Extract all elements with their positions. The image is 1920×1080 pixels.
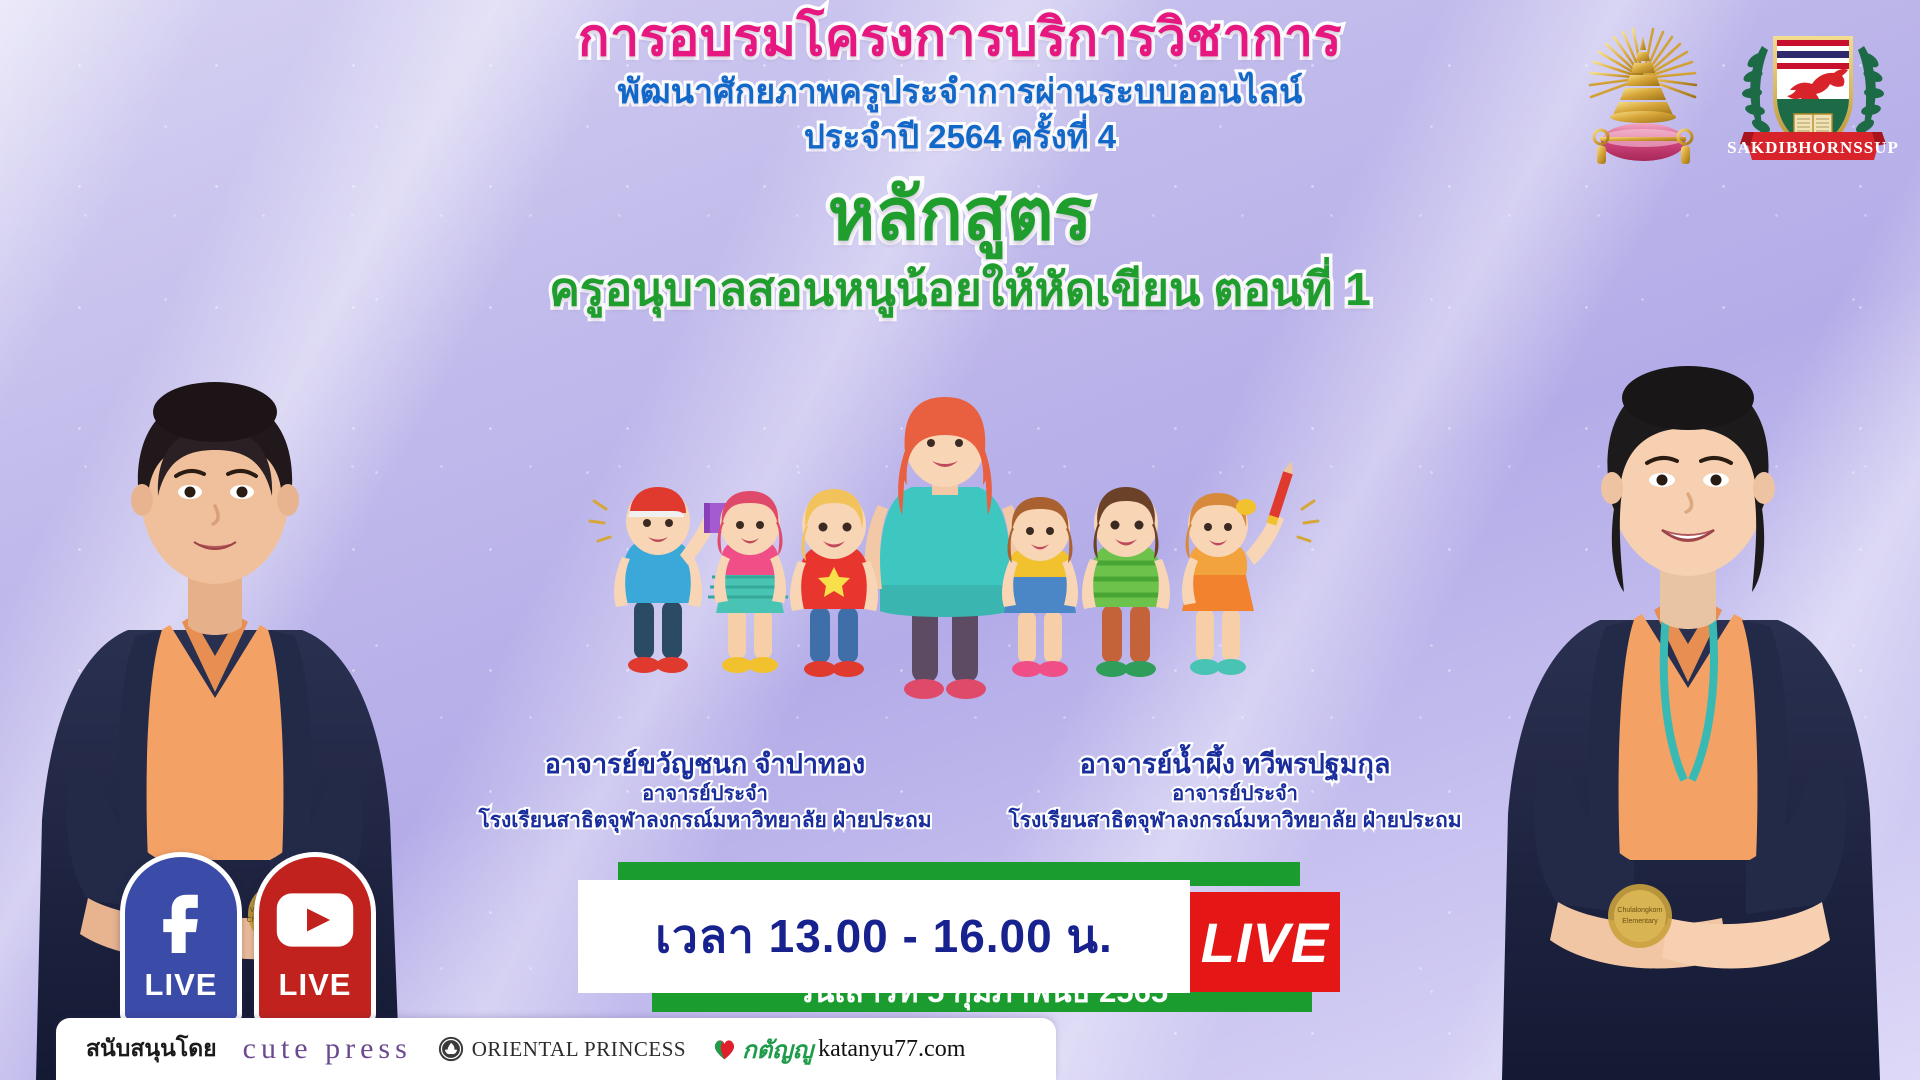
social-live-buttons: LIVE LIVE bbox=[120, 852, 376, 1024]
instructor-name: อาจารย์น้ำผึ้ง ทวีพรปฐมกุล bbox=[970, 748, 1500, 781]
youtube-icon bbox=[275, 873, 355, 967]
crest-banner-text: SAKDIBHORNSSUP bbox=[1728, 138, 1898, 157]
instructor-role: อาจารย์ประจำ bbox=[970, 782, 1500, 807]
instructor-name: อาจารย์ขวัญชนก จำปาทอง bbox=[440, 748, 970, 781]
chulalongkorn-university-emblem-icon bbox=[1588, 14, 1698, 189]
facebook-live-label: LIVE bbox=[145, 967, 218, 1019]
svg-text:Elementary: Elementary bbox=[1622, 918, 1658, 925]
illustration-child-5 bbox=[1082, 487, 1170, 677]
sakdibhornssup-foundation-crest-icon: SAKDIBHORNSSUP bbox=[1728, 14, 1898, 179]
sponsor-oriental-princess: ORIENTAL PRINCESS bbox=[438, 1036, 686, 1062]
time-text: เวลา 13.00 - 16.00 น. bbox=[655, 900, 1112, 973]
teacher-and-children-illustration bbox=[560, 395, 1350, 725]
instructor-block-right: อาจารย์น้ำผึ้ง ทวีพรปฐมกุล อาจารย์ประจำ … bbox=[970, 748, 1500, 834]
course-name: ครูอนุบาลสอนหนูน้อยให้หัดเขียน ตอนที่ 1 bbox=[0, 262, 1920, 317]
oriental-princess-logo-icon bbox=[438, 1036, 464, 1062]
instructor-school: โรงเรียนสาธิตจุฬาลงกรณ์มหาวิทยาลัย ฝ่ายป… bbox=[440, 808, 970, 834]
illustration-teacher bbox=[865, 397, 1026, 699]
youtube-live-label: LIVE bbox=[279, 967, 352, 1019]
facebook-live-button[interactable]: LIVE bbox=[120, 852, 242, 1024]
youtube-live-button[interactable]: LIVE bbox=[254, 852, 376, 1024]
katanyu-url-text: katanyu77.com bbox=[818, 1036, 965, 1063]
date-text: วันเสาร์ที่ 5 กุมภาพันธ์ 2565 bbox=[652, 970, 1312, 1012]
logo-group: SAKDIBHORNSSUP bbox=[1588, 14, 1898, 189]
illustration-child-6 bbox=[1182, 460, 1296, 675]
instructor-role: อาจารย์ประจำ bbox=[440, 782, 970, 807]
oriental-princess-text: ORIENTAL PRINCESS bbox=[472, 1037, 686, 1062]
schedule-banner: เวลา 13.00 - 16.00 น. LIVE วันเสาร์ที่ 5… bbox=[560, 862, 1350, 1002]
katanyu-thai-text: กตัญญู bbox=[742, 1030, 813, 1069]
illustration-child-3 bbox=[790, 489, 878, 677]
sponsor-cute-press: cute press bbox=[243, 1032, 412, 1066]
live-badge-label: LIVE bbox=[1201, 910, 1329, 975]
illustration-child-1 bbox=[614, 487, 728, 673]
sponsor-label: สนับสนุนโดย bbox=[86, 1031, 217, 1067]
poster-root: SAKDIBHORNSSUP การอบรมโครงการบริการวิชาก… bbox=[0, 0, 1920, 1080]
instructor-credits: อาจารย์ขวัญชนก จำปาทอง อาจารย์ประจำ โรงเ… bbox=[440, 748, 1500, 834]
instructor-photo-right: Chulalongkorn Elementary bbox=[1470, 280, 1910, 1080]
instructor-block-left: อาจารย์ขวัญชนก จำปาทอง อาจารย์ประจำ โรงเ… bbox=[440, 748, 970, 834]
sponsor-bar: สนับสนุนโดย cute press ORIENTAL PRINCESS… bbox=[56, 1018, 1056, 1080]
instructor-school: โรงเรียนสาธิตจุฬาลงกรณ์มหาวิทยาลัย ฝ่ายป… bbox=[970, 808, 1500, 834]
svg-text:Chulalongkorn: Chulalongkorn bbox=[1617, 907, 1662, 914]
heart-icon bbox=[712, 1037, 737, 1062]
illustration-child-4 bbox=[1002, 497, 1078, 677]
sponsor-katanyu: กตัญญู katanyu77.com bbox=[712, 1030, 965, 1069]
facebook-icon bbox=[153, 873, 209, 967]
